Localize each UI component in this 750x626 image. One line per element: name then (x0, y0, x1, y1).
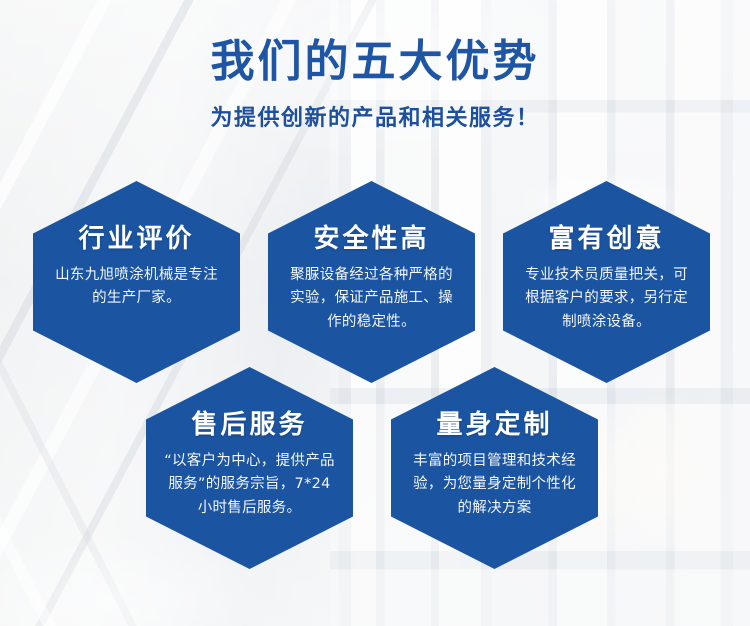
page-subtitle: 为提供创新的产品和相关服务！ (0, 100, 750, 132)
advantage-body: 山东九旭喷涂机械是专注的生产厂家。 (43, 264, 230, 311)
promo-banner: 我们的五大优势 为提供创新的产品和相关服务！ 行业评价 山东九旭喷涂机械是专注的… (0, 0, 750, 626)
advantage-title: 安全性高 (278, 218, 465, 255)
advantage-body: 丰富的项目管理和技术经验，为您量身定制个性化的解决方案 (401, 450, 588, 520)
advantage-body: 聚脲设备经过各种严格的实验，保证产品施工、操作的稳定性。 (278, 264, 465, 334)
advantage-title: 富有创意 (513, 218, 700, 255)
advantage-body: 专业技术员质量把关，可根据客户的要求，另行定制喷涂设备。 (513, 264, 700, 334)
advantage-body: “以客户为中心，提供产品服务”的服务宗旨，7*24小时售后服务。 (156, 450, 343, 520)
page-title: 我们的五大优势 (0, 38, 750, 86)
advantage-title: 行业评价 (43, 218, 230, 255)
advantage-title: 量身定制 (401, 404, 588, 441)
advantage-title: 售后服务 (156, 404, 343, 441)
banner-header: 我们的五大优势 为提供创新的产品和相关服务！ (0, 38, 750, 132)
